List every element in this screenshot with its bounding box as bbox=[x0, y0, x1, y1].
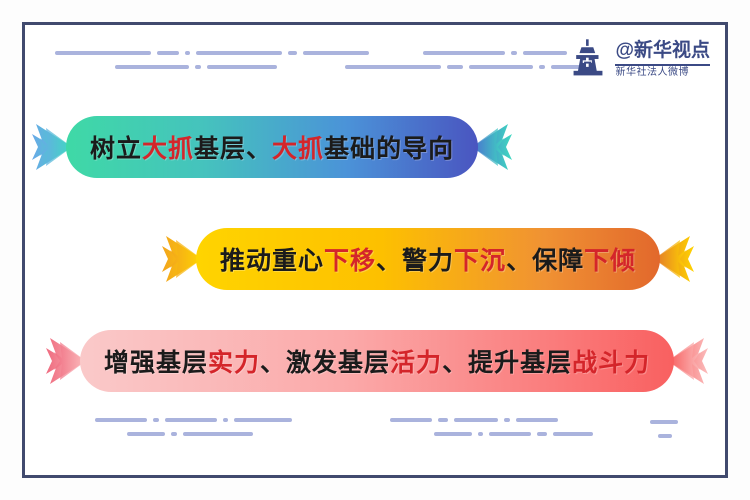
xinhua-tower-icon bbox=[567, 38, 609, 80]
candy-pill-1: 树立大抓基层、大抓基础的导向 bbox=[66, 116, 478, 178]
logo-subtitle: 新华社法人微博 bbox=[615, 64, 710, 78]
banner-3-text: 增强基层实力、激发基层活力、提升基层战斗力 bbox=[104, 343, 650, 379]
xinhua-logo: @新华视点 新华社法人微博 bbox=[567, 38, 710, 80]
logo-handle: @新华视点 bbox=[615, 41, 710, 60]
candy-banner-3: 增强基层实力、激发基层活力、提升基层战斗力 bbox=[46, 330, 708, 392]
poster-canvas: @新华视点 新华社法人微博 树立大抓基层、大抓基础的导向 bbox=[0, 0, 750, 500]
candy-pill-3: 增强基层实力、激发基层活力、提升基层战斗力 bbox=[80, 330, 674, 392]
logo-text-block: @新华视点 新华社法人微博 bbox=[615, 41, 710, 78]
banner-2-text: 推动重心下移、警力下沉、保障下倾 bbox=[220, 241, 636, 277]
candy-pill-2: 推动重心下移、警力下沉、保障下倾 bbox=[196, 228, 660, 290]
banner-1-text: 树立大抓基层、大抓基础的导向 bbox=[90, 129, 454, 165]
candy-banner-2: 推动重心下移、警力下沉、保障下倾 bbox=[162, 228, 694, 290]
candy-banner-1: 树立大抓基层、大抓基础的导向 bbox=[32, 116, 512, 178]
